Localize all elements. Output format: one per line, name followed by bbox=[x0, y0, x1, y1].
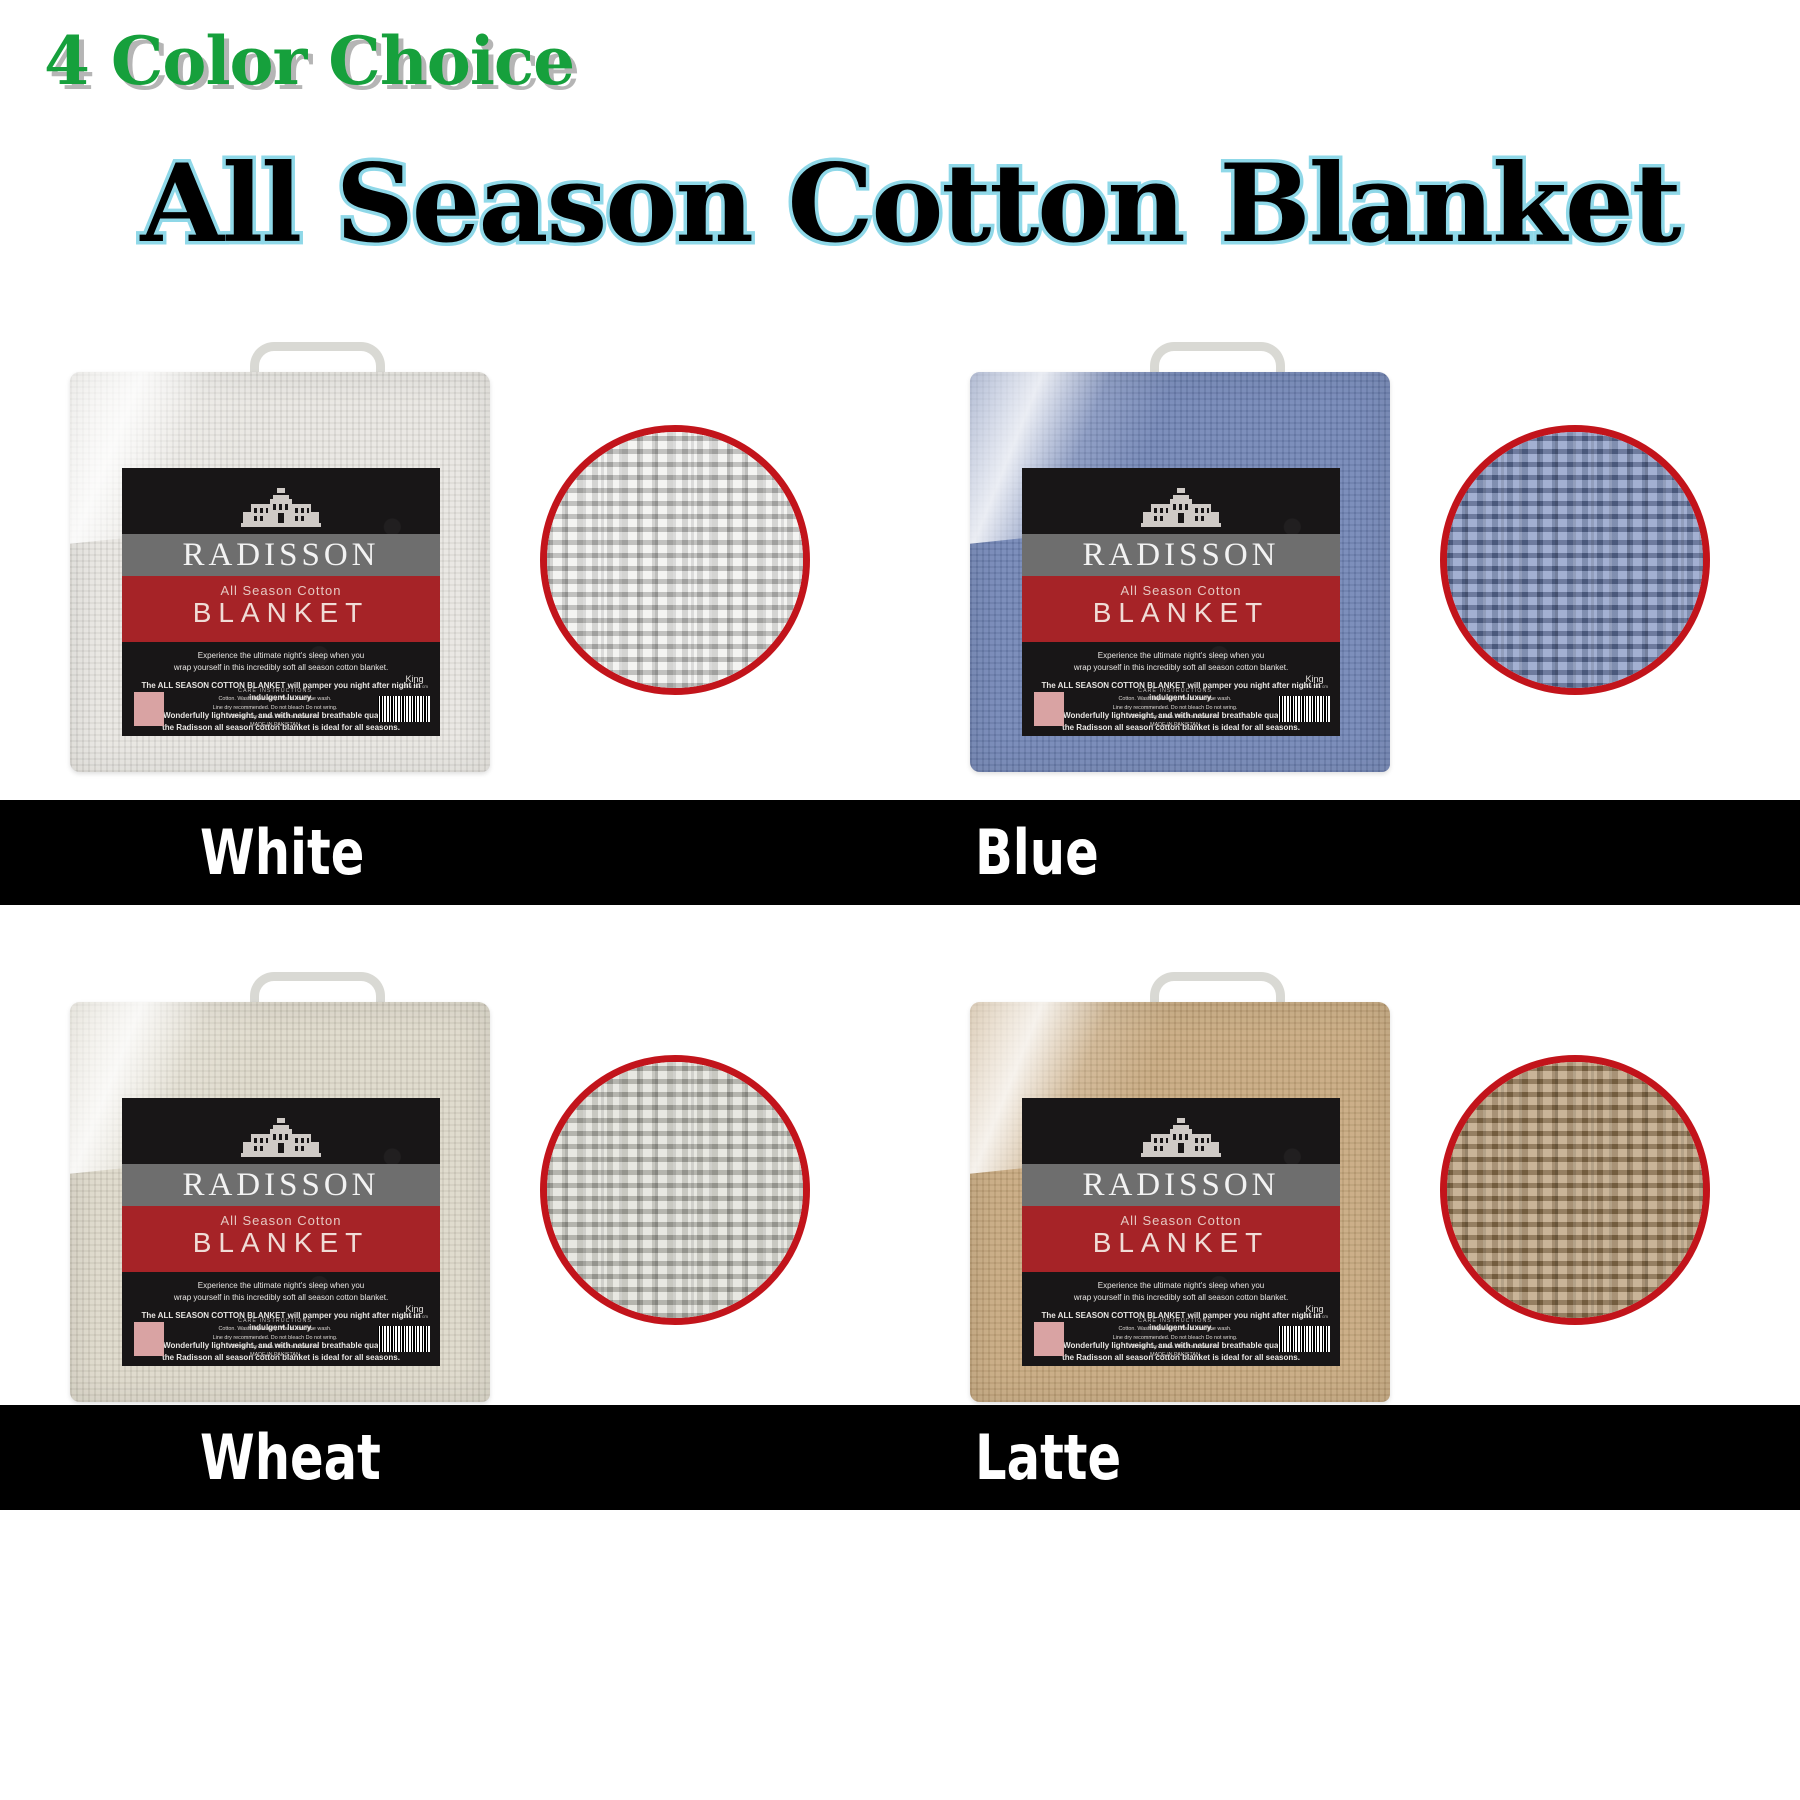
brand-name: RADISSON bbox=[182, 537, 379, 574]
copy-line-2: wrap yourself in this incredibly soft al… bbox=[1074, 663, 1288, 672]
care-line-2: Line dry recommended. Do not bleach Do n… bbox=[184, 1334, 366, 1343]
care-line-3: Do not Dry Clean. Hot Iron if desired bbox=[1084, 713, 1266, 722]
care-instructions: CARE INSTRUCTIONS Cotton. Wash separatel… bbox=[1084, 1317, 1266, 1360]
barcode-icon bbox=[1278, 1326, 1330, 1352]
size-dimensions: 229 x 254 cm bbox=[401, 685, 428, 690]
eyebrow-text: 4 Color Choice bbox=[44, 22, 574, 100]
product-subtitle: All Season Cotton bbox=[1022, 1213, 1340, 1228]
product-name: BLANKET bbox=[1022, 1228, 1340, 1257]
header-banner: 4 Color Choice All Season Cotton Blanket bbox=[0, 0, 1800, 320]
fabric-swatch-circle bbox=[1440, 425, 1710, 695]
size-value: King bbox=[405, 674, 423, 684]
product-band: All Season Cotton BLANKET bbox=[1022, 1206, 1340, 1272]
size-value: King bbox=[1305, 1304, 1323, 1314]
variant-card-blue[interactable]: RADISSON All Season Cotton BLANKET Exper… bbox=[900, 340, 1800, 790]
brand-name: RADISSON bbox=[182, 1167, 379, 1204]
brand-band: RADISSON bbox=[122, 534, 440, 576]
hotel-crest-icon bbox=[1022, 1112, 1340, 1164]
color-name: Wheat bbox=[200, 1421, 381, 1494]
fabric-swatch-circle bbox=[540, 1055, 810, 1325]
copy-line-2: wrap yourself in this incredibly soft al… bbox=[174, 1293, 388, 1302]
product-subtitle: All Season Cotton bbox=[1022, 583, 1340, 598]
origin-text: MADE IN PAKISTAN bbox=[184, 721, 366, 730]
color-chip bbox=[134, 692, 164, 726]
brand-name: RADISSON bbox=[1082, 537, 1279, 574]
product-package: RADISSON All Season Cotton BLANKET Exper… bbox=[970, 980, 1390, 1410]
product-package: RADISSON All Season Cotton BLANKET Exper… bbox=[70, 980, 490, 1410]
copy-line-1: Experience the ultimate night's sleep wh… bbox=[1098, 651, 1265, 660]
color-name: Latte bbox=[975, 1421, 1121, 1494]
copy-line-2: wrap yourself in this incredibly soft al… bbox=[174, 663, 388, 672]
product-name: BLANKET bbox=[1022, 598, 1340, 627]
package-label: RADISSON All Season Cotton BLANKET Exper… bbox=[122, 468, 440, 736]
care-title: CARE INSTRUCTIONS bbox=[1084, 1317, 1266, 1326]
fabric-weave-overlay bbox=[1447, 432, 1703, 688]
product-name: BLANKET bbox=[122, 1228, 440, 1257]
origin-text: MADE IN PAKISTAN bbox=[184, 1351, 366, 1360]
size-dimensions: 229 x 254 cm bbox=[1301, 1315, 1328, 1320]
color-name: Blue bbox=[975, 816, 1099, 889]
product-subtitle: All Season Cotton bbox=[122, 1213, 440, 1228]
care-line-3: Do not Dry Clean. Hot Iron if desired bbox=[1084, 1343, 1266, 1352]
size-dimensions: 229 x 254 cm bbox=[1301, 685, 1328, 690]
package-label: RADISSON All Season Cotton BLANKET Exper… bbox=[122, 1098, 440, 1366]
care-line-3: Do not Dry Clean. Hot Iron if desired bbox=[184, 1343, 366, 1352]
care-instructions: CARE INSTRUCTIONS Cotton. Wash separatel… bbox=[1084, 687, 1266, 730]
size-label: King 229 x 254 cm bbox=[401, 675, 428, 690]
size-value: King bbox=[1305, 674, 1323, 684]
barcode-icon bbox=[1278, 696, 1330, 722]
care-line-2: Line dry recommended. Do not bleach Do n… bbox=[184, 704, 366, 713]
copy-line-1: Experience the ultimate night's sleep wh… bbox=[1098, 1281, 1265, 1290]
copy-line-2: wrap yourself in this incredibly soft al… bbox=[1074, 1293, 1288, 1302]
product-band: All Season Cotton BLANKET bbox=[122, 1206, 440, 1272]
color-chip bbox=[134, 1322, 164, 1356]
care-line-1: Cotton. Wash separately. Warm machine wa… bbox=[1084, 695, 1266, 704]
package-label: RADISSON All Season Cotton BLANKET Exper… bbox=[1022, 1098, 1340, 1366]
color-name-bar-blue: Blue bbox=[900, 800, 1800, 905]
brand-band: RADISSON bbox=[1022, 534, 1340, 576]
care-line-1: Cotton. Wash separately. Warm machine wa… bbox=[184, 1325, 366, 1334]
care-line-2: Line dry recommended. Do not bleach Do n… bbox=[1084, 1334, 1266, 1343]
origin-text: MADE IN PAKISTAN bbox=[1084, 1351, 1266, 1360]
size-label: King 229 x 254 cm bbox=[1301, 675, 1328, 690]
care-line-2: Line dry recommended. Do not bleach Do n… bbox=[1084, 704, 1266, 713]
fabric-weave-overlay bbox=[1447, 1062, 1703, 1318]
variant-card-white[interactable]: RADISSON All Season Cotton BLANKET Exper… bbox=[0, 340, 900, 790]
color-name: White bbox=[200, 816, 364, 889]
product-package: RADISSON All Season Cotton BLANKET Exper… bbox=[70, 350, 490, 780]
color-chip bbox=[1034, 692, 1064, 726]
size-label: King 229 x 254 cm bbox=[1301, 1305, 1328, 1320]
page-title: All Season Cotton Blanket bbox=[40, 150, 1780, 258]
brand-band: RADISSON bbox=[122, 1164, 440, 1206]
variant-card-latte[interactable]: RADISSON All Season Cotton BLANKET Exper… bbox=[900, 970, 1800, 1420]
care-line-1: Cotton. Wash separately. Warm machine wa… bbox=[184, 695, 366, 704]
product-band: All Season Cotton BLANKET bbox=[122, 576, 440, 642]
fabric-weave-overlay bbox=[547, 1062, 803, 1318]
barcode-icon bbox=[378, 696, 430, 722]
product-band: All Season Cotton BLANKET bbox=[1022, 576, 1340, 642]
brand-band: RADISSON bbox=[1022, 1164, 1340, 1206]
product-package: RADISSON All Season Cotton BLANKET Exper… bbox=[970, 350, 1390, 780]
copy-line-1: Experience the ultimate night's sleep wh… bbox=[198, 651, 365, 660]
brand-name: RADISSON bbox=[1082, 1167, 1279, 1204]
care-title: CARE INSTRUCTIONS bbox=[1084, 687, 1266, 696]
color-name-bar-white: White bbox=[0, 800, 900, 905]
hotel-crest-icon bbox=[122, 482, 440, 534]
color-chip bbox=[1034, 1322, 1064, 1356]
size-dimensions: 229 x 254 cm bbox=[401, 1315, 428, 1320]
care-title: CARE INSTRUCTIONS bbox=[184, 1317, 366, 1326]
product-name: BLANKET bbox=[122, 598, 440, 627]
package-label: RADISSON All Season Cotton BLANKET Exper… bbox=[1022, 468, 1340, 736]
size-value: King bbox=[405, 1304, 423, 1314]
fabric-swatch-circle bbox=[540, 425, 810, 695]
hotel-crest-icon bbox=[122, 1112, 440, 1164]
hotel-crest-icon bbox=[1022, 482, 1340, 534]
color-name-bar-latte: Latte bbox=[900, 1405, 1800, 1510]
care-instructions: CARE INSTRUCTIONS Cotton. Wash separatel… bbox=[184, 1317, 366, 1360]
fabric-swatch-circle bbox=[1440, 1055, 1710, 1325]
care-line-3: Do not Dry Clean. Hot Iron if desired bbox=[184, 713, 366, 722]
color-name-bar-wheat: Wheat bbox=[0, 1405, 900, 1510]
copy-line-1: Experience the ultimate night's sleep wh… bbox=[198, 1281, 365, 1290]
variant-card-wheat[interactable]: RADISSON All Season Cotton BLANKET Exper… bbox=[0, 970, 900, 1420]
care-line-1: Cotton. Wash separately. Warm machine wa… bbox=[1084, 1325, 1266, 1334]
origin-text: MADE IN PAKISTAN bbox=[1084, 721, 1266, 730]
care-instructions: CARE INSTRUCTIONS Cotton. Wash separatel… bbox=[184, 687, 366, 730]
barcode-icon bbox=[378, 1326, 430, 1352]
product-subtitle: All Season Cotton bbox=[122, 583, 440, 598]
size-label: King 229 x 254 cm bbox=[401, 1305, 428, 1320]
care-title: CARE INSTRUCTIONS bbox=[184, 687, 366, 696]
fabric-weave-overlay bbox=[547, 432, 803, 688]
